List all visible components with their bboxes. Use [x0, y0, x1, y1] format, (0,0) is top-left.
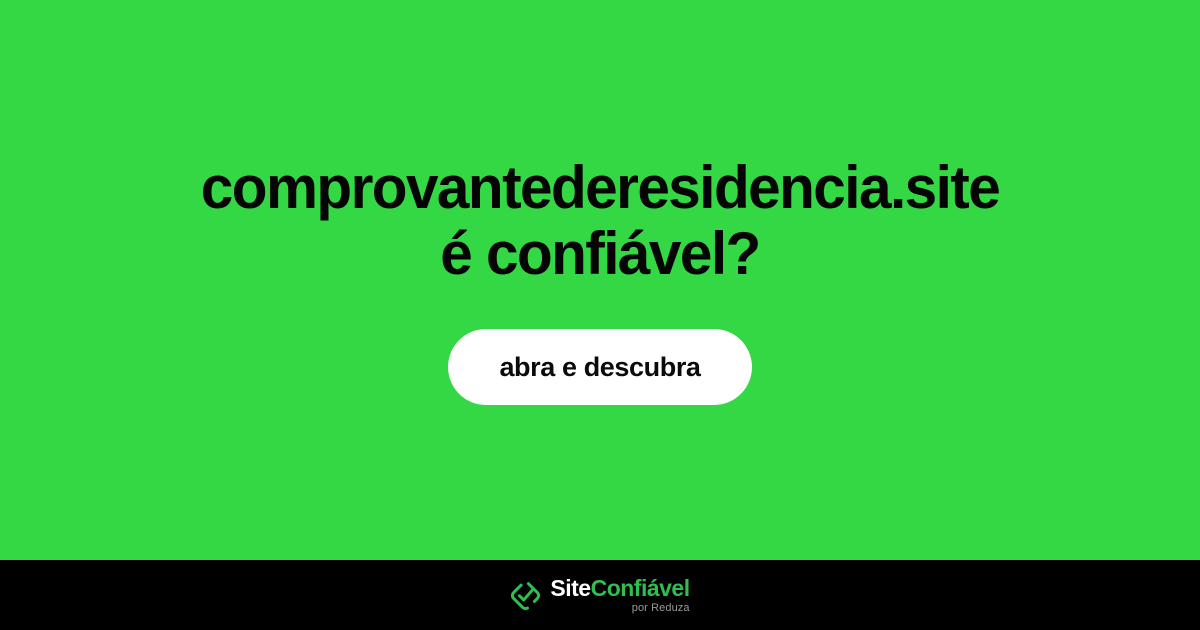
brand-logo[interactable]: SiteConfiável por Reduza	[510, 577, 689, 614]
headline-line-1: comprovantederesidencia.site	[64, 155, 1137, 221]
brand-name-site: Site	[550, 575, 590, 601]
shield-check-icon	[510, 580, 541, 611]
brand-tagline: por Reduza	[632, 603, 690, 614]
footer-bar: SiteConfiável por Reduza	[0, 560, 1200, 630]
headline-line-2: é confiável?	[64, 221, 1137, 287]
brand-name-confiavel: Confiável	[591, 575, 690, 601]
hero-section: comprovantederesidencia.site é confiável…	[0, 0, 1200, 560]
open-and-discover-button[interactable]: abra e descubra	[448, 329, 752, 405]
page-title: comprovantederesidencia.site é confiável…	[64, 155, 1137, 287]
brand-text-block: SiteConfiável por Reduza	[550, 577, 689, 614]
cta-container: abra e descubra	[0, 329, 1200, 405]
brand-name: SiteConfiável	[550, 577, 689, 600]
og-share-card: comprovantederesidencia.site é confiável…	[0, 0, 1200, 630]
